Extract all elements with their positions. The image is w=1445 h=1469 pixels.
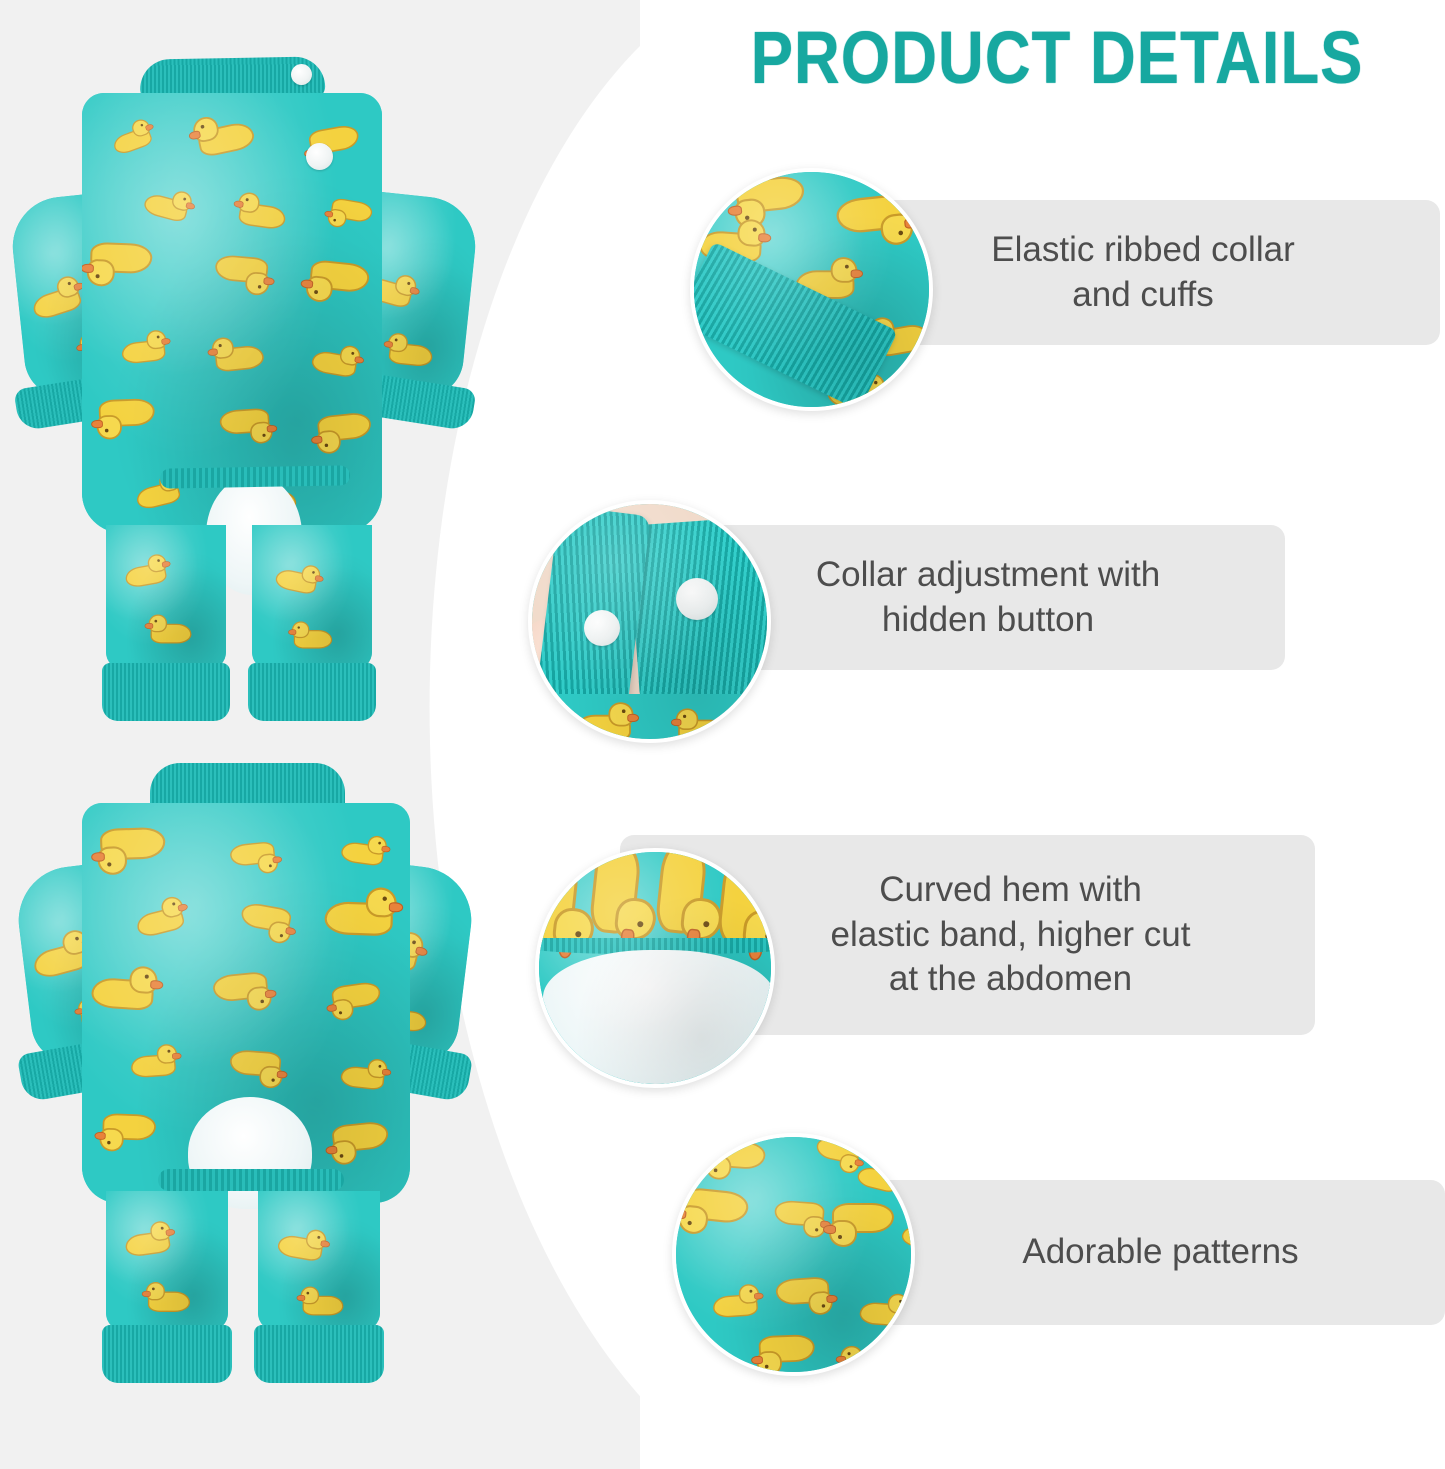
hidden-snap-button-1	[676, 578, 718, 620]
feature-2-line-1: Collar adjustment with	[715, 553, 1261, 598]
collar-snap-button-2	[306, 143, 333, 170]
feature-photo-curved-hem	[535, 848, 775, 1088]
hidden-snap-button-2	[584, 610, 620, 646]
product-details-infographic: PRODUCT DETAILS Elastic ribbed collar an…	[0, 0, 1445, 1469]
product-image-pajama-front-view	[10, 755, 480, 1415]
page-title: PRODUCT DETAILS	[726, 14, 1388, 100]
front-hem-elastic-band	[158, 1169, 344, 1191]
feature-2-line-2: hidden button	[715, 598, 1261, 643]
feature-1-line-2: and cuffs	[870, 273, 1416, 318]
hem-white-lining	[543, 950, 775, 1088]
hem-elastic-band	[160, 465, 350, 488]
feature-3-line-3: at the abdomen	[730, 957, 1291, 1002]
front-left-leg	[106, 1191, 228, 1331]
feature-3-line-1: Curved hem with	[730, 868, 1291, 913]
feature-1-line-1: Elastic ribbed collar	[870, 228, 1416, 273]
right-leg	[252, 525, 372, 670]
feature-photo-collar-snap	[528, 500, 771, 743]
left-leg	[106, 525, 226, 670]
feature-3-line-2: elastic band, higher cut	[730, 913, 1291, 958]
feature-photo-ribbed-cuff	[690, 168, 933, 411]
front-right-leg-cuff	[254, 1325, 384, 1383]
feature-4-line-1: Adorable patterns	[900, 1230, 1421, 1275]
front-left-leg-cuff	[102, 1325, 232, 1383]
collar-snap-button-1	[291, 64, 312, 85]
feature-photo-duck-pattern	[672, 1133, 915, 1376]
product-image-pajama-back-view	[10, 45, 480, 725]
right-leg-cuff	[248, 663, 376, 721]
front-right-leg	[258, 1191, 380, 1331]
left-leg-cuff	[102, 663, 230, 721]
